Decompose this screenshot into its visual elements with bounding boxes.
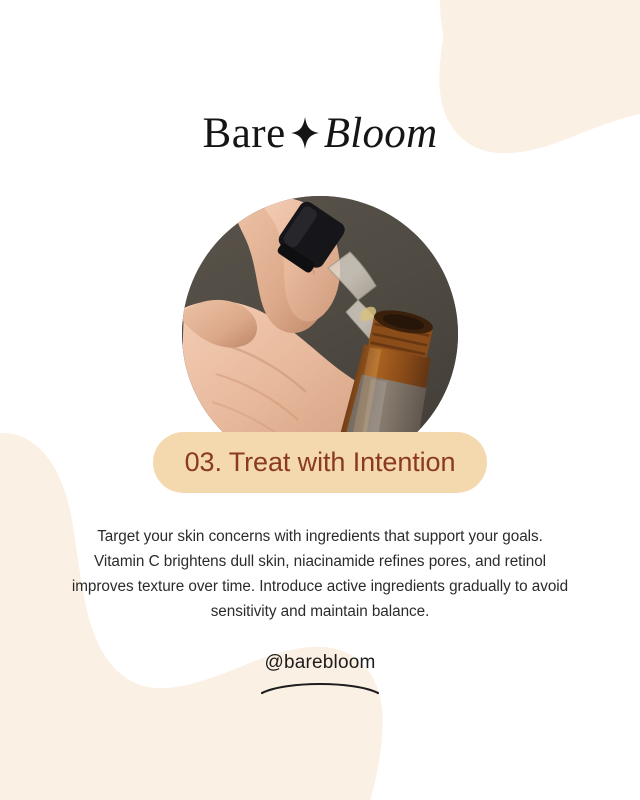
step-title-text: 03. Treat with Intention bbox=[185, 447, 456, 478]
four-point-star-icon bbox=[288, 115, 322, 155]
logo-word-bloom: Bloom bbox=[324, 112, 438, 155]
post-canvas: Bare Bloom bbox=[0, 0, 640, 800]
top-right-cream-blob-shape bbox=[439, 0, 640, 367]
logo-word-bare: Bare bbox=[203, 112, 286, 155]
brand-logo: Bare Bloom bbox=[0, 112, 640, 155]
social-handle: @barebloom bbox=[264, 652, 375, 673]
body-paragraph: Target your skin concerns with ingredien… bbox=[70, 524, 570, 624]
product-photo-illustration bbox=[182, 196, 458, 472]
footer-handle-block: @barebloom bbox=[0, 652, 640, 695]
arc-swash-icon bbox=[260, 679, 380, 695]
step-title-badge: 03. Treat with Intention bbox=[153, 432, 487, 493]
product-photo bbox=[182, 196, 458, 472]
